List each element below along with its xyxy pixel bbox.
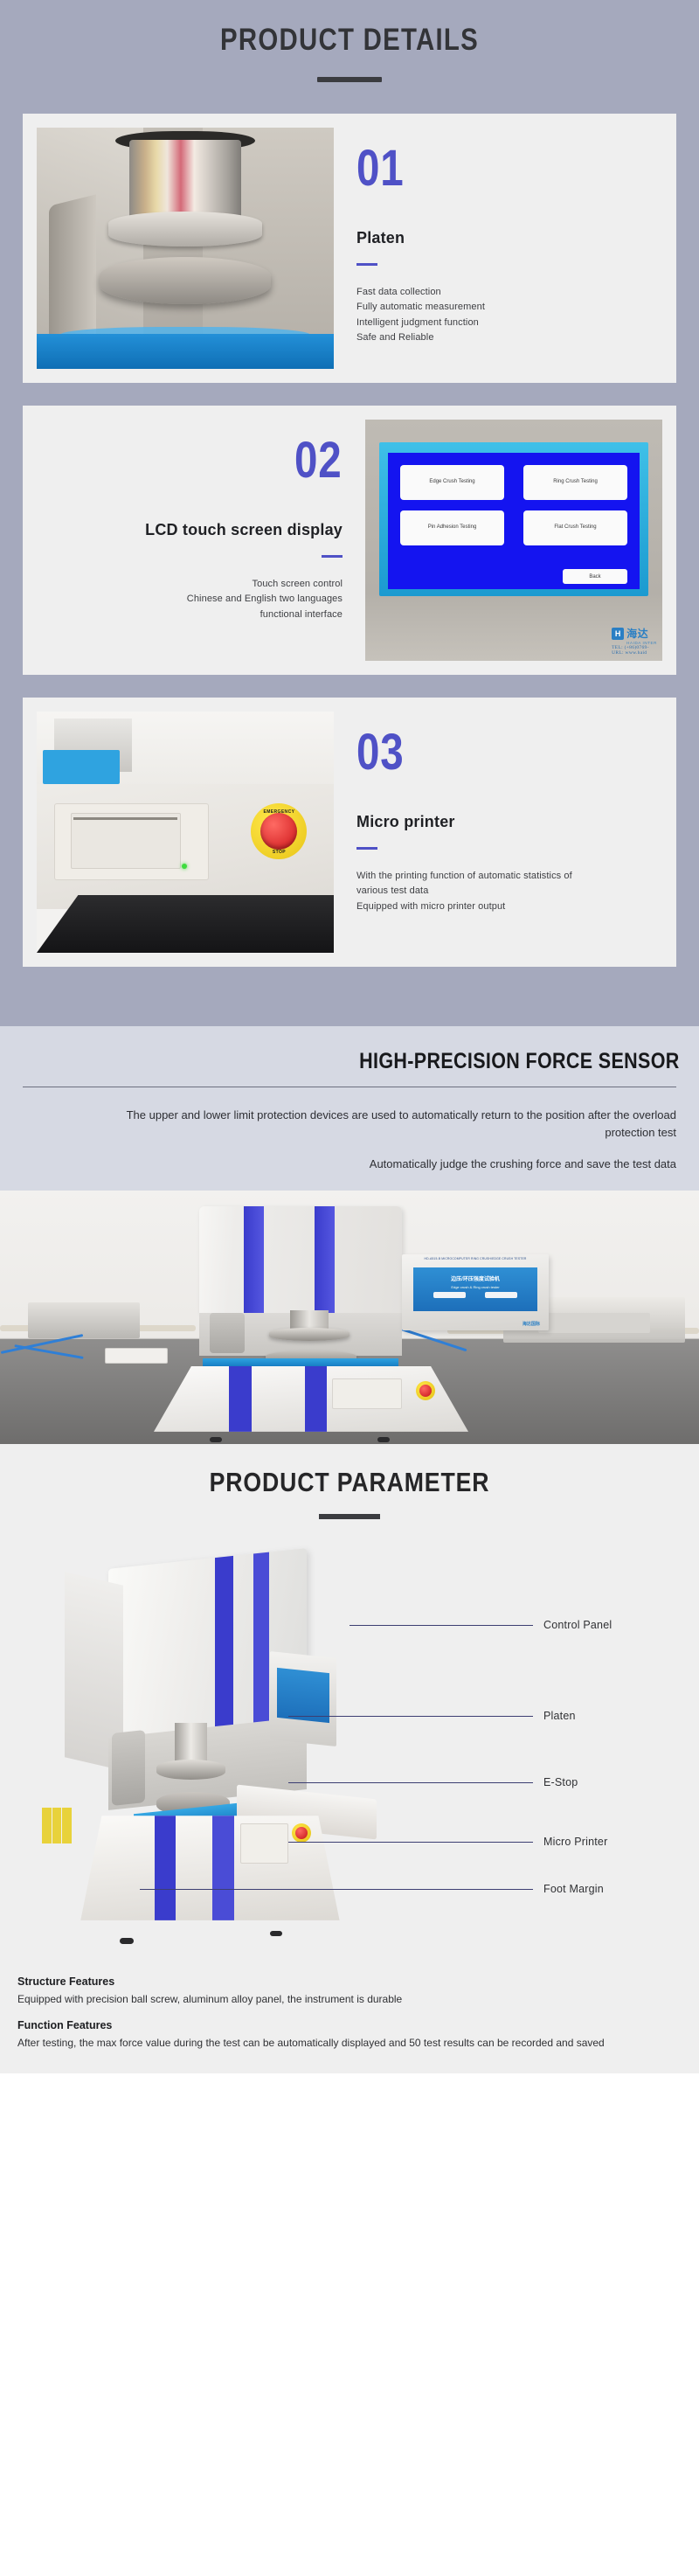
card-title: Micro printer: [356, 813, 640, 831]
function-features-heading: Function Features: [17, 2019, 699, 2031]
force-sensor-heading: HIGH-PRECISION FORCE SENSOR: [98, 1049, 699, 1074]
hero-machine-photo: HD-A515-B MICROCOMPUTER RING CRUSH/EDGE …: [0, 1191, 699, 1444]
diagram-foot-left: [120, 1938, 134, 1944]
product-parameter-heading: PRODUCT PARAMETER: [49, 1467, 650, 1498]
title-underline: [356, 847, 377, 850]
product-details-heading: PRODUCT DETAILS: [56, 23, 643, 58]
haida-watermark: H 海达 HAIDA INTER TEL: (+86)0769- URL: ww…: [612, 626, 657, 656]
printer-status-led: [182, 864, 187, 869]
diagram-micro-printer: [240, 1823, 288, 1864]
product-parameter-section: PRODUCT PARAMETER: [0, 1444, 699, 2073]
printer-module: [54, 803, 209, 880]
callout-label: Control Panel: [543, 1619, 612, 1631]
card-number: 01: [356, 143, 589, 194]
lcd-bezel: Edge Crush Testing Ring Crush Testing Pi…: [379, 442, 648, 596]
force-paragraph-1: The upper and lower limit protection dev…: [0, 1087, 699, 1142]
detail-card-02-body: 02 LCD touch screen display Touch screen…: [37, 420, 365, 661]
machine-upper-housing: [199, 1206, 402, 1313]
lcd-button-edge-crush[interactable]: Edge Crush Testing: [400, 465, 504, 500]
features-block: Structure Features Equipped with precisi…: [0, 1955, 699, 2073]
lcd-button-pin-adhesion[interactable]: Pin Adhesion Testing: [400, 510, 504, 545]
parameter-diagram: Control Panel Platen E-Stop Micro Printe…: [0, 1535, 699, 1955]
panel-screen-button-2[interactable]: [485, 1292, 517, 1298]
estop-bottom-label: STOP: [273, 850, 286, 855]
upper-platen: [269, 1328, 349, 1341]
detail-card-01: 01 Platen Fast data collection Fully aut…: [23, 114, 676, 383]
callout-control-panel: Control Panel: [349, 1619, 664, 1631]
structure-features-text: Equipped with precision ball screw, alum…: [17, 1991, 699, 2007]
micro-printer-photo: EMERGENCY STOP: [37, 712, 334, 953]
machine-control-panel[interactable]: HD-A515-B MICROCOMPUTER RING CRUSH/EDGE …: [402, 1254, 549, 1330]
callout-label: Micro Printer: [543, 1836, 607, 1848]
callout-label: Platen: [543, 1710, 576, 1722]
card-description: With the printing function of automatic …: [356, 869, 640, 914]
callout-label: E-Stop: [543, 1776, 578, 1788]
lcd-button-ring-crush[interactable]: Ring Crush Testing: [523, 465, 627, 500]
card-description: Touch screen control Chinese and English…: [187, 577, 343, 622]
lcd-button-grid: Edge Crush Testing Ring Crush Testing Pi…: [400, 465, 627, 545]
callout-foot-margin: Foot Margin: [140, 1883, 664, 1895]
title-underline: [322, 555, 343, 558]
panel-screen-english-title: Edge crush & Ring crush tester: [413, 1285, 536, 1289]
lcd-screen: Edge Crush Testing Ring Crush Testing Pi…: [388, 453, 640, 589]
title-underline: [356, 263, 377, 266]
card-description: Fast data collection Fully automatic mea…: [356, 285, 640, 346]
product-details-section: PRODUCT DETAILS 01 Platen Fast data coll…: [0, 0, 699, 1026]
card-number: 02: [294, 435, 343, 486]
heading-underline: [317, 77, 382, 82]
detail-card-03-body: 03 Micro printer With the printing funct…: [334, 712, 662, 953]
lcd-touch-screen-photo: Edge Crush Testing Ring Crush Testing Pi…: [365, 420, 662, 661]
callout-estop: E-Stop: [288, 1776, 664, 1788]
callout-micro-printer: Micro Printer: [288, 1836, 664, 1848]
structure-features-heading: Structure Features: [17, 1975, 699, 1988]
machine-emergency-stop[interactable]: [416, 1381, 435, 1400]
detail-card-01-body: 01 Platen Fast data collection Fully aut…: [334, 128, 662, 369]
detail-card-03: EMERGENCY STOP 03 Micro printer With the…: [23, 698, 676, 967]
control-panel-screen[interactable]: 边压/环压强度试验机 Edge crush & Ring crush teste…: [413, 1267, 536, 1311]
callout-platen: Platen: [288, 1710, 664, 1722]
callout-label: Foot Margin: [543, 1883, 604, 1895]
detail-card-02: 02 LCD touch screen display Touch screen…: [23, 406, 676, 675]
watermark-chinese: 海达: [626, 626, 648, 641]
lcd-button-flat-crush[interactable]: Flat Crush Testing: [523, 510, 627, 545]
card-title: Platen: [356, 229, 640, 247]
control-panel-model-label: HD-A515-B MICROCOMPUTER RING CRUSH/EDGE …: [405, 1257, 545, 1260]
machine-safety-window: [210, 1313, 245, 1353]
diagram-foot-right: [270, 1931, 282, 1936]
lcd-back-button[interactable]: Back: [563, 569, 627, 584]
panel-screen-chinese-title: 边压/环压强度试验机: [413, 1274, 536, 1282]
card-title: LCD touch screen display: [145, 521, 343, 539]
function-features-text: After testing, the max force value durin…: [17, 2035, 699, 2051]
diagram-safety-window: [112, 1730, 145, 1806]
force-sensor-section: HIGH-PRECISION FORCE SENSOR The upper an…: [0, 1026, 699, 1191]
watermark-url: URL: www.haid: [612, 650, 657, 656]
diagram-control-panel: [270, 1651, 336, 1746]
parameter-heading-underline: [319, 1514, 380, 1519]
panel-brand-label: 海达国际: [523, 1321, 540, 1327]
panel-screen-button-1[interactable]: [433, 1292, 466, 1298]
platen-closeup-photo: [37, 128, 334, 369]
emergency-stop-button[interactable]: EMERGENCY STOP: [251, 803, 307, 859]
force-paragraph-2: Automatically judge the crushing force a…: [0, 1142, 699, 1173]
haida-logo-icon: H: [612, 628, 624, 640]
card-number: 03: [356, 727, 589, 778]
machine-micro-printer: [332, 1378, 402, 1409]
diagram-upper-platen: [156, 1760, 226, 1780]
product-detail-page: PRODUCT DETAILS 01 Platen Fast data coll…: [0, 0, 699, 2073]
